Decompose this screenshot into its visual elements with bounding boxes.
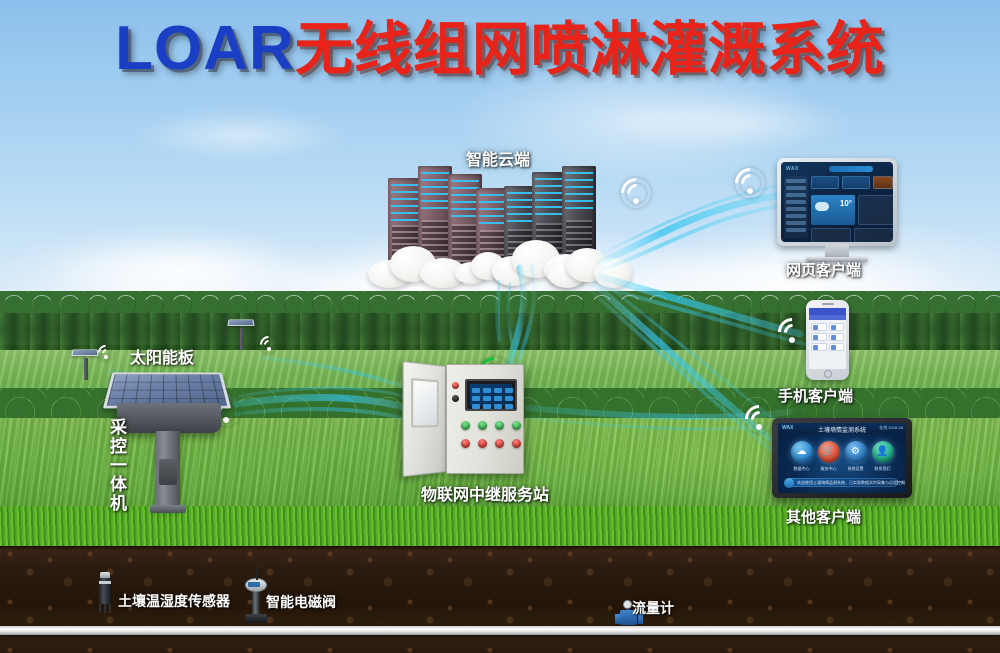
solar-panel-icon — [71, 349, 98, 355]
control-button[interactable] — [512, 421, 521, 430]
sensor-probes — [99, 604, 111, 613]
sidebar-item[interactable] — [786, 207, 806, 211]
wifi-icon — [621, 178, 655, 212]
cabinet-button-row-bottom[interactable] — [461, 439, 521, 448]
wifi-icon — [260, 336, 280, 356]
phone-grid-item[interactable] — [829, 333, 845, 341]
solar-pole — [84, 358, 88, 380]
irrigation-pipe — [0, 626, 1000, 635]
phone-grid-item[interactable] — [811, 333, 827, 341]
label-relay-station: 物联网中继服务站 — [421, 481, 549, 505]
remote-solar-unit — [72, 348, 102, 382]
dashboard-panel[interactable] — [858, 195, 893, 225]
tablet-tile-label: 服务中心 — [818, 466, 840, 472]
info-icon — [784, 478, 794, 488]
label-integrated-unit: 采控一体机 — [104, 418, 129, 513]
status-lamp — [452, 382, 459, 389]
tablet-title: 土壤墒情监测系统 — [818, 425, 866, 434]
tablet-tile-label: 联系我们 — [872, 466, 894, 472]
cabinet-window — [411, 378, 439, 428]
control-button[interactable] — [461, 421, 470, 430]
title-brand: LOAR — [115, 14, 295, 83]
cart-icon[interactable]: 🛒 — [818, 441, 840, 463]
cabinet-button-row-top[interactable] — [461, 421, 521, 430]
sidebar-item[interactable] — [786, 200, 806, 204]
tablet-tile-label: 数据中心 — [791, 466, 813, 472]
weather-widget: 10° — [811, 195, 855, 225]
phone-screen[interactable] — [809, 308, 846, 369]
cabinet-door[interactable] — [403, 361, 446, 477]
monitor-bezel: WAX 10° — [777, 158, 897, 246]
label-smart-cloud: 智能云端 — [466, 146, 530, 170]
pole-plate — [159, 459, 177, 485]
valve-antenna — [256, 566, 258, 580]
solar-panel-icon — [227, 319, 254, 325]
cabinet-body[interactable] — [446, 364, 524, 474]
mobile-client-phone[interactable] — [806, 300, 849, 380]
iot-relay-cabinet[interactable] — [402, 364, 524, 476]
control-button[interactable] — [478, 439, 487, 448]
phone-grid-item[interactable] — [829, 343, 845, 351]
phone-grid-item[interactable] — [811, 343, 827, 351]
label-soil-sensor: 土壤温湿度传感器 — [118, 591, 230, 611]
cloud-shape — [548, 248, 632, 288]
wifi-icon — [735, 168, 769, 202]
sidebar-item[interactable] — [786, 221, 806, 225]
cloud-wisp — [130, 110, 350, 160]
control-button[interactable] — [512, 439, 521, 448]
dashboard-panel[interactable] — [854, 228, 893, 242]
tablet-ticker-text: 欢迎使用土壤墒情监测系统，已实现数据实时采集与远程控制… — [797, 480, 906, 486]
dashboard-title-pill — [829, 166, 873, 172]
label-mobile-client: 手机客户端 — [778, 385, 853, 406]
pole-foot — [150, 505, 186, 513]
dashboard-card[interactable] — [842, 176, 870, 189]
tablet-tile-row[interactable]: ☁ 数据中心 🛒 服务中心 ⚙ 系统设置 👤 联系我们 — [778, 441, 906, 472]
tablet-status: 在线 2018-08 — [879, 425, 903, 431]
label-solenoid-valve: 智能电磁阀 — [266, 592, 336, 612]
control-button[interactable] — [495, 439, 504, 448]
cloud-icon[interactable]: ☁ — [791, 441, 813, 463]
phone-grid-item[interactable] — [811, 323, 827, 331]
monitor-neck — [825, 244, 849, 258]
label-web-client: 网页客户端 — [786, 259, 861, 280]
gear-icon[interactable]: ⚙ — [845, 441, 867, 463]
cloud-shape — [368, 246, 468, 288]
tablet-tile[interactable]: ⚙ 系统设置 — [845, 441, 867, 472]
phone-speaker — [822, 303, 834, 305]
sidebar-item[interactable] — [786, 214, 806, 218]
dashboard-card[interactable] — [811, 176, 839, 189]
hmi-screen[interactable] — [470, 384, 512, 406]
soil-sensor-device — [97, 572, 113, 614]
title-chinese: 无线组网喷淋灌溉系统 — [295, 15, 885, 83]
sidebar-item[interactable] — [786, 228, 806, 232]
user-icon[interactable]: 👤 — [872, 441, 894, 463]
sidebar-item[interactable] — [786, 186, 806, 190]
label-flow-meter: 流量计 — [632, 598, 674, 618]
phone-app-grid[interactable] — [809, 320, 846, 354]
dashboard-panel[interactable] — [811, 228, 851, 242]
web-dashboard-screen[interactable]: WAX 10° — [781, 162, 893, 242]
sidebar-item[interactable] — [786, 179, 806, 183]
solar-pole — [240, 328, 244, 350]
dashboard-sidebar[interactable] — [784, 176, 808, 238]
valve-head — [245, 578, 267, 592]
tablet-screen[interactable]: WAX 土壤墒情监测系统 在线 2018-08 ☁ 数据中心 🛒 服务中心 ⚙ … — [778, 423, 906, 493]
phone-titlebar — [809, 308, 846, 315]
valve-base — [245, 614, 267, 623]
control-button[interactable] — [495, 421, 504, 430]
control-button[interactable] — [461, 439, 470, 448]
cloud-icon — [815, 202, 829, 211]
tablet-tile[interactable]: 👤 联系我们 — [872, 441, 894, 472]
sidebar-item[interactable] — [786, 193, 806, 197]
label-other-client: 其他客户端 — [786, 506, 861, 527]
phone-home-button[interactable] — [824, 370, 832, 378]
cloud-wisp — [600, 95, 860, 150]
infographic-canvas: LOAR无线组网喷淋灌溉系统 智能云端 — [0, 0, 1000, 653]
status-lamp — [452, 395, 459, 402]
tablet-ticker: 欢迎使用土壤墒情监测系统，已实现数据实时采集与远程控制… — [786, 478, 898, 487]
other-client-tablet[interactable]: WAX 土壤墒情监测系统 在线 2018-08 ☁ 数据中心 🛒 服务中心 ⚙ … — [772, 418, 912, 498]
phone-grid-item[interactable] — [829, 323, 845, 331]
dashboard-logo: WAX — [786, 166, 799, 172]
tablet-tile[interactable]: ☁ 数据中心 — [791, 441, 813, 472]
weather-temperature: 10° — [840, 199, 852, 208]
hmi-panel[interactable] — [465, 379, 517, 411]
sensor-body — [99, 578, 112, 604]
tablet-header: WAX 土壤墒情监测系统 在线 2018-08 — [778, 423, 906, 434]
valve-stem — [252, 592, 260, 614]
web-client-monitor[interactable]: WAX 10° — [777, 158, 897, 246]
tablet-tile-label: 系统设置 — [845, 466, 867, 472]
label-solar-panel: 太阳能板 — [130, 344, 194, 368]
solar-pole — [156, 431, 180, 509]
page-title: LOAR无线组网喷淋灌溉系统 — [0, 18, 1000, 80]
solar-panel-housing — [117, 403, 221, 433]
remote-solar-unit — [228, 318, 258, 352]
control-button[interactable] — [478, 421, 487, 430]
tablet-tile[interactable]: 🛒 服务中心 — [818, 441, 840, 472]
tablet-logo: WAX — [782, 425, 793, 431]
dashboard-card[interactable] — [873, 176, 893, 189]
